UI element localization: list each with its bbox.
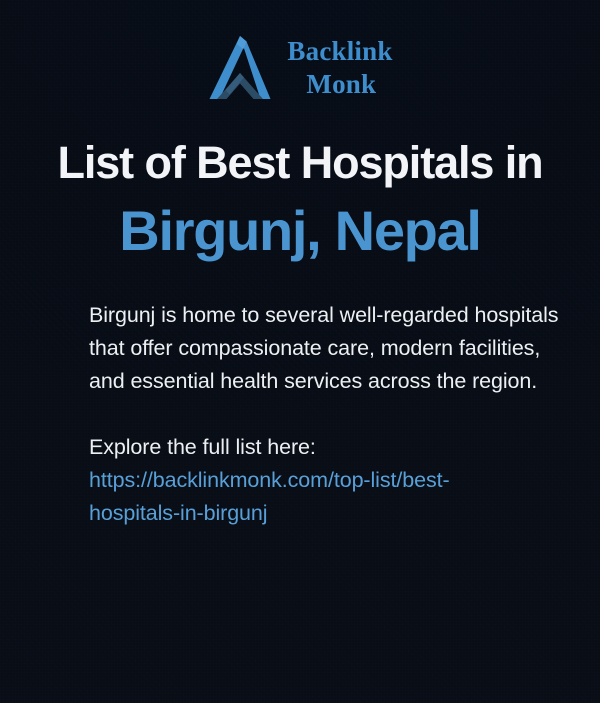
description-paragraph: Birgunj is home to several well-regarded… bbox=[89, 299, 569, 398]
brand-wordmark: Backlink Monk bbox=[287, 38, 392, 98]
poster-content: Backlink Monk List of Best Hospitals in … bbox=[0, 0, 600, 703]
brand-logo[interactable]: Backlink Monk bbox=[0, 0, 600, 103]
brand-wordmark-line1: Backlink bbox=[287, 38, 392, 65]
cta-block: Explore the full list here: https://back… bbox=[89, 431, 572, 530]
page-title: List of Best Hospitals in Birgunj, Nepal bbox=[0, 140, 600, 260]
page-title-line2: Birgunj, Nepal bbox=[20, 202, 580, 260]
cta-url-link[interactable]: https://backlinkmonk.com/top-list/best-h… bbox=[89, 464, 509, 530]
body-block: Birgunj is home to several well-regarded… bbox=[0, 299, 600, 530]
cta-label: Explore the full list here: bbox=[89, 431, 572, 464]
brand-wordmark-line2: Monk bbox=[287, 71, 392, 98]
poster-canvas: Backlink Monk List of Best Hospitals in … bbox=[0, 0, 600, 703]
page-title-line1: List of Best Hospitals in bbox=[20, 140, 580, 187]
backlink-monk-arrow-logo-icon bbox=[207, 33, 273, 103]
